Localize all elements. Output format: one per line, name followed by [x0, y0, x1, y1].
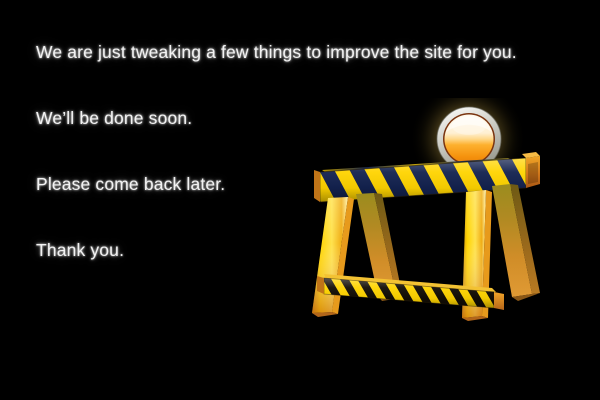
maintenance-page: We are just tweaking a few things to imp…: [0, 0, 600, 400]
barricade-leg-rear-right: [492, 184, 540, 301]
construction-barricade-illustration: [296, 98, 556, 338]
barricade-leg-front-left: [312, 197, 354, 317]
message-line-1: We are just tweaking a few things to imp…: [36, 44, 576, 62]
barricade-svg: [296, 98, 556, 338]
